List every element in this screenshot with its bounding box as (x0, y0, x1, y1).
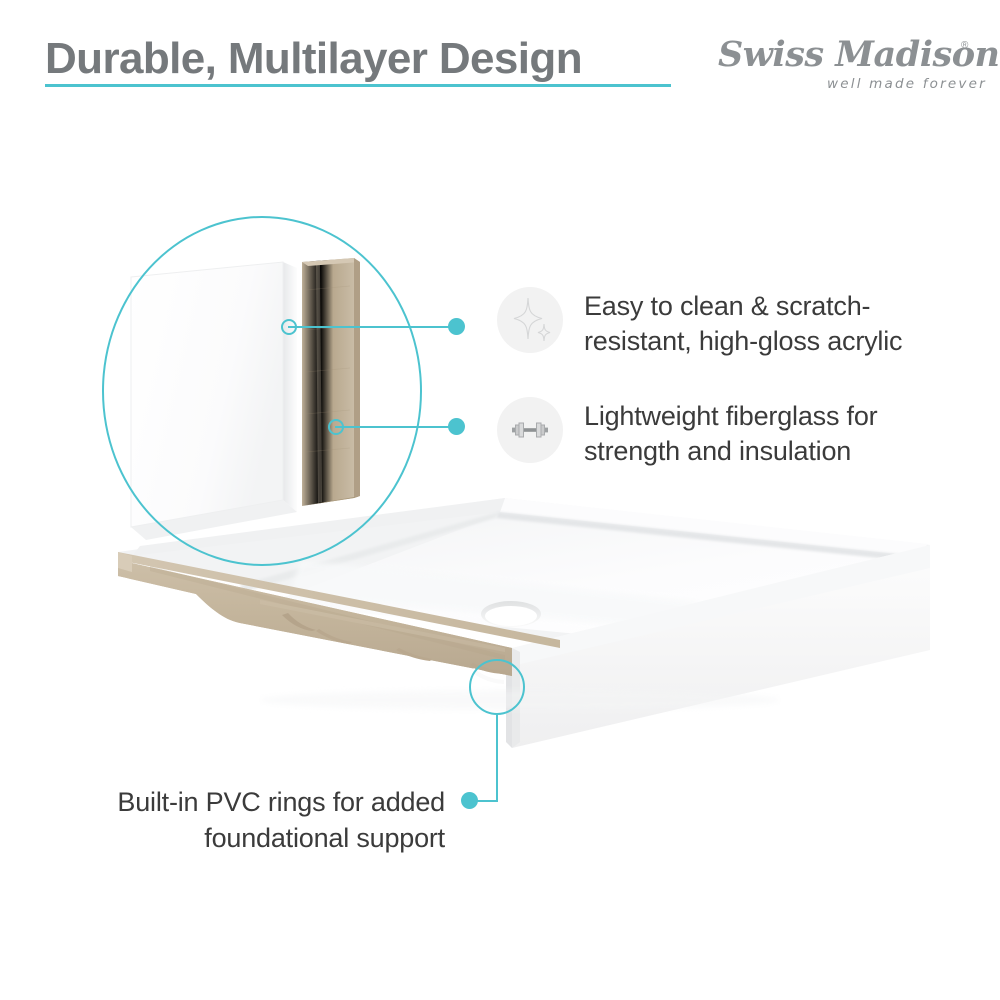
dumbbell-icon (497, 397, 563, 463)
pvc-ring-marker-circle (469, 659, 525, 715)
pvc-leader-dot (461, 792, 478, 809)
brand-wordmark: Swiss Madison (718, 34, 976, 75)
pvc-rings-caption: Built-in PVC rings for added foundationa… (60, 784, 445, 856)
brand-tagline: well made forever (827, 76, 987, 92)
brand-logo: Swiss Madison ® well made forever (718, 34, 976, 96)
feature-fiberglass-label: Lightweight fiberglass for strength and … (584, 397, 877, 469)
drain-hole (481, 601, 541, 627)
sparkle-shine-icon (497, 287, 563, 353)
leader-ring-fiberglass (328, 419, 344, 435)
cross-section-magnifier-circle (102, 216, 422, 566)
page-title: Durable, Multilayer Design (45, 32, 582, 86)
infographic-canvas: Durable, Multilayer Design Swiss Madison… (0, 0, 1000, 1000)
title-underline (45, 84, 671, 87)
leader-dot-fiberglass (448, 418, 465, 435)
leader-ring-acrylic (281, 319, 297, 335)
leader-dot-acrylic (448, 318, 465, 335)
leader-line-acrylic (288, 326, 460, 328)
feature-acrylic: Easy to clean & scratch- resistant, high… (497, 287, 902, 359)
leader-line-fiberglass (335, 426, 460, 428)
registered-trademark-icon: ® (961, 40, 968, 51)
pvc-leader-line-vertical (496, 715, 498, 802)
feature-acrylic-label: Easy to clean & scratch- resistant, high… (584, 287, 902, 359)
feature-fiberglass: Lightweight fiberglass for strength and … (497, 397, 877, 469)
